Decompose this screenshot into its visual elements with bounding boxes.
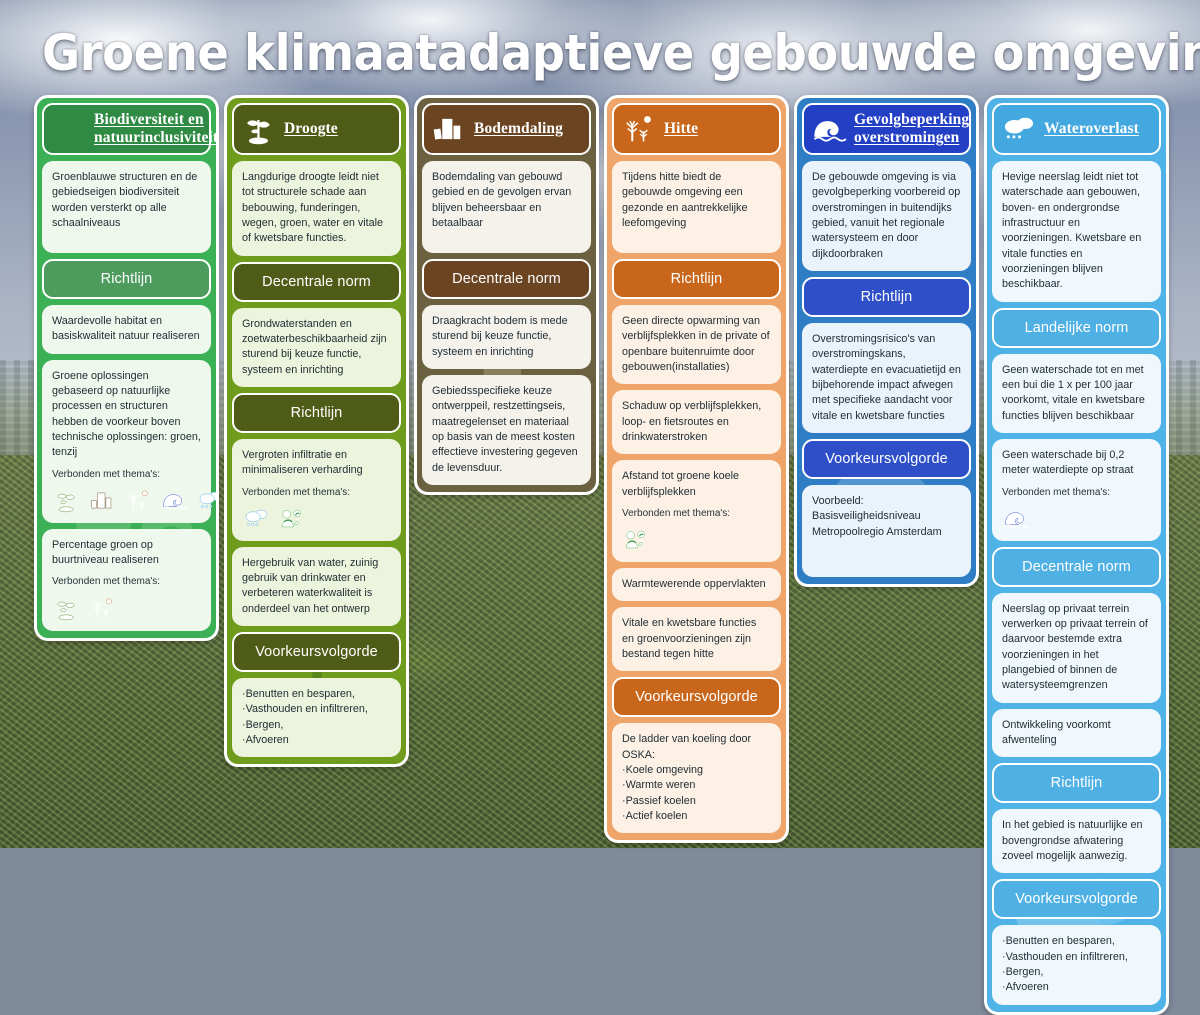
page-title: Groene klimaatadaptieve gebouwde omgevin… (42, 24, 1158, 82)
info-card: In het gebied is natuurlijke en bovengro… (992, 809, 1161, 873)
biodiversity-icon (51, 111, 87, 147)
bodemdaling-icon (431, 111, 467, 147)
info-card: De gebouwde omgeving is via gevolgbeperk… (802, 161, 971, 271)
info-card: Hergebruik van water, zuinig gebruik van… (232, 547, 401, 626)
card-text: De gebouwde omgeving is via gevolgbeperk… (812, 170, 961, 262)
info-card: Voorbeeld: Basisveiligheidsniveau Metrop… (802, 485, 971, 577)
column-header-biodiversiteit[interactable]: Biodiversiteit en natuurinclusiviteit (42, 103, 211, 155)
related-themes-icons (52, 595, 201, 622)
card-text: ·Benutten en besparen, ·Vasthouden en in… (242, 687, 391, 748)
info-card: Waardevolle habitat en basiskwaliteit na… (42, 305, 211, 354)
info-card: ·Benutten en besparen, ·Vasthouden en in… (992, 925, 1161, 1004)
card-text: Voorbeeld: Basisveiligheidsniveau Metrop… (812, 494, 961, 540)
card-text: Gebiedsspecifieke keuze ontwerppeil, res… (432, 384, 581, 476)
info-card: Geen waterschade bij 0,2 meter waterdiep… (992, 439, 1161, 541)
info-card: Hevige neerslag leidt niet tot waterscha… (992, 161, 1161, 302)
overstromingen-icon (160, 487, 189, 514)
theme-column-biodiversiteit: Biodiversiteit en natuurinclusiviteitGro… (34, 95, 219, 641)
section-band: Richtlijn (992, 763, 1161, 803)
wateroverlast-icon (1001, 111, 1037, 147)
column-title: Droogte (284, 120, 338, 138)
card-subtitle: Verbonden met thema's: (242, 486, 391, 500)
hitte-icon (88, 595, 117, 622)
card-text: Tijdens hitte biedt de gebouwde omgeving… (622, 170, 771, 231)
info-card: Geen directe opwarming van verblijfsplek… (612, 305, 781, 384)
info-card: ·Benutten en besparen, ·Vasthouden en in… (232, 678, 401, 757)
info-card: De ladder van koeling door OSKA: ·Koele … (612, 723, 781, 833)
section-band: Richtlijn (612, 259, 781, 299)
info-card: Gebiedsspecifieke keuze ontwerppeil, res… (422, 375, 591, 485)
column-header-droogte[interactable]: Droogte (232, 103, 401, 155)
section-band: Richtlijn (232, 393, 401, 433)
section-band: Richtlijn (802, 277, 971, 317)
info-card: Schaduw op verblijfsplekken, loop- en fi… (612, 390, 781, 454)
theme-column-gevolgbeperking: Gevolgbeperking overstromingenDe gebouwd… (794, 95, 979, 587)
related-themes-icons (1002, 505, 1151, 532)
section-band: Richtlijn (42, 259, 211, 299)
card-text: Overstromingsrisico's van overstromingsk… (812, 332, 961, 424)
droogte-icon (241, 111, 277, 147)
column-header-hitte[interactable]: Hitte (612, 103, 781, 155)
section-band: Voorkeursvolgorde (612, 677, 781, 717)
card-subtitle: Verbonden met thema's: (1002, 486, 1151, 500)
section-band: Landelijke norm (992, 308, 1161, 348)
card-text: Geen waterschade bij 0,2 meter waterdiep… (1002, 448, 1151, 479)
card-text: Percentage groen op buurtniveau realiser… (52, 538, 201, 569)
info-card: Draagkracht bodem is mede sturend bij ke… (422, 305, 591, 369)
section-band: Voorkeursvolgorde (802, 439, 971, 479)
card-text: Schaduw op verblijfsplekken, loop- en fi… (622, 399, 771, 445)
info-card: Groene oplossingen gebaseerd op natuurli… (42, 360, 211, 523)
card-text: Warmtewerende oppervlakten (622, 577, 771, 592)
card-text: Groenblauwe structuren en de gebiedseige… (52, 170, 201, 231)
card-text: Neerslag op privaat terrein verwerken op… (1002, 602, 1151, 694)
card-text: Afstand tot groene koele verblijfsplekke… (622, 469, 771, 500)
card-subtitle: Verbonden met thema's: (52, 468, 201, 482)
overstromingen-icon (1002, 505, 1031, 532)
info-card: Percentage groen op buurtniveau realiser… (42, 529, 211, 631)
info-card: Vergroten infiltratie en minimaliseren v… (232, 439, 401, 541)
info-card: Ontwikkeling voorkomt afwenteling (992, 709, 1161, 758)
info-card: Warmtewerende oppervlakten (612, 568, 781, 601)
column-header-bodemdaling[interactable]: Bodemdaling (422, 103, 591, 155)
card-text: Bodemdaling van gebouwd gebied en de gev… (432, 170, 581, 231)
column-header-gevolgbeperking[interactable]: Gevolgbeperking overstromingen (802, 103, 971, 155)
section-band: Decentrale norm (422, 259, 591, 299)
card-text: Grondwaterstanden en zoetwaterbeschikbaa… (242, 317, 391, 378)
card-text: Groene oplossingen gebaseerd op natuurli… (52, 369, 201, 461)
section-band: Voorkeursvolgorde (232, 632, 401, 672)
card-subtitle: Verbonden met thema's: (622, 507, 771, 521)
card-text: Vergroten infiltratie en minimaliseren v… (242, 448, 391, 479)
theme-columns: Biodiversiteit en natuurinclusiviteitGro… (34, 95, 1169, 1015)
column-title: Biodiversiteit en natuurinclusiviteit (94, 111, 218, 148)
theme-column-droogte: DroogteLangdurige droogte leidt niet tot… (224, 95, 409, 767)
column-title: Gevolgbeperking overstromingen (854, 111, 969, 148)
section-band: Voorkeursvolgorde (992, 879, 1161, 919)
section-band: Decentrale norm (992, 547, 1161, 587)
related-themes-icons (242, 505, 391, 532)
wateroverlast-icon (196, 487, 219, 514)
card-text: Vitale en kwetsbare functies en groenvoo… (622, 616, 771, 662)
theme-column-wateroverlast: WateroverlastHevige neerslag leidt niet … (984, 95, 1169, 1015)
hitte-icon (621, 111, 657, 147)
info-card: Geen waterschade tot en met een bui die … (992, 354, 1161, 433)
card-text: Ontwikkeling voorkomt afwenteling (1002, 718, 1151, 749)
column-title: Hitte (664, 120, 698, 138)
section-band: Decentrale norm (232, 262, 401, 302)
droogte-icon (52, 487, 81, 514)
info-card: Vitale en kwetsbare functies en groenvoo… (612, 607, 781, 671)
info-card: Bodemdaling van gebouwd gebied en de gev… (422, 161, 591, 253)
card-text: Geen directe opwarming van verblijfsplek… (622, 314, 771, 375)
card-text: De ladder van koeling door OSKA: ·Koele … (622, 732, 771, 824)
card-text: Geen waterschade tot en met een bui die … (1002, 363, 1151, 424)
column-title: Bodemdaling (474, 120, 563, 138)
info-card: Langdurige droogte leidt niet tot struct… (232, 161, 401, 256)
related-themes-icons (622, 526, 771, 553)
bodemdaling-icon (88, 487, 117, 514)
card-text: Hergebruik van water, zuinig gebruik van… (242, 556, 391, 617)
biodiversiteit-icon (278, 505, 307, 532)
card-text: In het gebied is natuurlijke en bovengro… (1002, 818, 1151, 864)
card-text: Draagkracht bodem is mede sturend bij ke… (432, 314, 581, 360)
droogte-icon (52, 595, 81, 622)
overstromingen-icon (811, 111, 847, 147)
card-text: Langdurige droogte leidt niet tot struct… (242, 170, 391, 247)
theme-column-bodemdaling: BodemdalingBodemdaling van gebouwd gebie… (414, 95, 599, 495)
info-card: Groenblauwe structuren en de gebiedseige… (42, 161, 211, 253)
card-text: ·Benutten en besparen, ·Vasthouden en in… (1002, 934, 1151, 995)
card-text: Hevige neerslag leidt niet tot waterscha… (1002, 170, 1151, 293)
info-card: Grondwaterstanden en zoetwaterbeschikbaa… (232, 308, 401, 387)
info-card: Tijdens hitte biedt de gebouwde omgeving… (612, 161, 781, 253)
theme-column-hitte: HitteTijdens hitte biedt de gebouwde omg… (604, 95, 789, 843)
wateroverlast-icon (242, 505, 271, 532)
column-header-wateroverlast[interactable]: Wateroverlast (992, 103, 1161, 155)
column-title: Wateroverlast (1044, 120, 1139, 138)
info-card: Neerslag op privaat terrein verwerken op… (992, 593, 1161, 703)
hitte-icon (124, 487, 153, 514)
related-themes-icons (52, 487, 201, 514)
card-text: Waardevolle habitat en basiskwaliteit na… (52, 314, 201, 345)
info-card: Overstromingsrisico's van overstromingsk… (802, 323, 971, 433)
biodiversiteit-icon (622, 526, 651, 553)
card-subtitle: Verbonden met thema's: (52, 575, 201, 589)
info-card: Afstand tot groene koele verblijfsplekke… (612, 460, 781, 562)
